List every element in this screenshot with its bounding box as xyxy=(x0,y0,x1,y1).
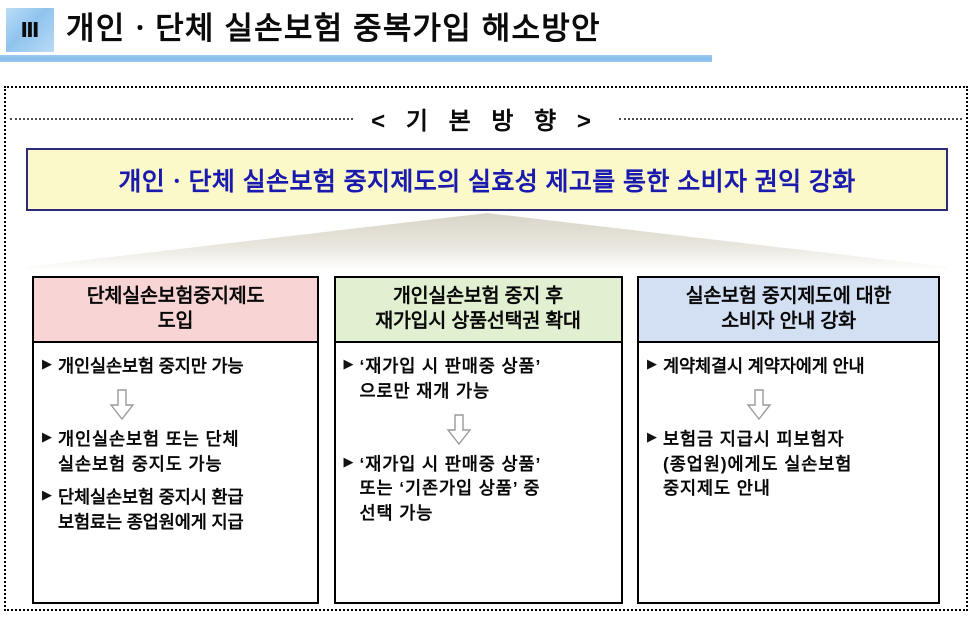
down-arrow-icon xyxy=(42,383,309,427)
box-3-header: 실손보험 중지제도에 대한 소비자 안내 강화 xyxy=(639,278,938,343)
box-1-header: 단체실손보험중지제도 도입 xyxy=(34,278,317,343)
list-item-text: 개인실손보험 또는 단체 실손보험 중지도 가능 xyxy=(58,427,309,477)
list-item-text: 개인실손보험 중지만 가능 xyxy=(58,354,309,379)
list-item: ▶ 계약체결시 계약자에게 안내 xyxy=(647,354,930,379)
down-arrow-icon xyxy=(647,383,930,427)
list-item-text: ‘재가입 시 판매중 상품’ 으로만 재개 가능 xyxy=(360,354,613,404)
strategy-box-row: 단체실손보험중지제도 도입 ▶ 개인실손보험 중지만 가능 ▶ 개인실손보험 또… xyxy=(32,276,940,604)
bullet-marker-icon: ▶ xyxy=(344,452,360,472)
goal-banner-text: 개인ㆍ단체 실손보험 중지제도의 실효성 제고를 통한 소비자 권익 강화 xyxy=(118,162,855,198)
dotted-rule-left xyxy=(10,118,353,120)
list-item: ▶ 개인실손보험 또는 단체 실손보험 중지도 가능 xyxy=(42,427,309,477)
roman-numeral-three-icon: Ⅲ xyxy=(6,8,54,52)
list-item-text: ‘재가입 시 판매중 상품’ 또는 ‘기존가입 상품’ 중 선택 가능 xyxy=(360,452,613,527)
list-item: ▶ 단체실손보험 중지시 환급 보험료는 종업원에게 지급 xyxy=(42,485,309,535)
box-2-header: 개인실손보험 중지 후 재가입시 상품선택권 확대 xyxy=(336,278,621,343)
box-group-insurance-suspension: 단체실손보험중지제도 도입 ▶ 개인실손보험 중지만 가능 ▶ 개인실손보험 또… xyxy=(32,276,319,604)
list-item: ▶ ‘재가입 시 판매중 상품’ 또는 ‘기존가입 상품’ 중 선택 가능 xyxy=(344,452,613,527)
list-item: ▶ ‘재가입 시 판매중 상품’ 으로만 재개 가능 xyxy=(344,354,613,404)
down-arrow-icon xyxy=(344,408,613,452)
list-item: ▶ 개인실손보험 중지만 가능 xyxy=(42,354,309,379)
bullet-marker-icon: ▶ xyxy=(42,427,58,447)
page-header: Ⅲ 개인ㆍ단체 실손보험 중복가입 해소방안 xyxy=(0,0,974,68)
section-heading: < 기 본 방 향 > xyxy=(10,98,962,138)
list-item-text: 보험금 지급시 피보험자 (종업원)에게도 실손보험 중지제도 안내 xyxy=(663,427,930,502)
box-product-choice-expansion: 개인실손보험 중지 후 재가입시 상품선택권 확대 ▶ ‘재가입 시 판매중 상… xyxy=(334,276,623,604)
box-3-body: ▶ 계약체결시 계약자에게 안내 ▶ 보험금 지급시 피보험자 (종업원)에게도… xyxy=(639,343,938,602)
box-2-body: ▶ ‘재가입 시 판매중 상품’ 으로만 재개 가능 ▶ ‘재가입 시 판매중 … xyxy=(336,343,621,602)
bullet-marker-icon: ▶ xyxy=(344,354,360,374)
list-item: ▶ 보험금 지급시 피보험자 (종업원)에게도 실손보험 중지제도 안내 xyxy=(647,427,930,502)
section-title-text: < 기 본 방 향 > xyxy=(371,101,601,136)
bullet-marker-icon: ▶ xyxy=(42,485,58,505)
bullet-marker-icon: ▶ xyxy=(42,354,58,374)
page-title: 개인ㆍ단체 실손보험 중복가입 해소방안 xyxy=(66,3,601,55)
bullet-marker-icon: ▶ xyxy=(647,427,663,447)
header-underline-bar xyxy=(0,55,712,62)
dotted-rule-right xyxy=(619,118,962,120)
list-item-text: 계약체결시 계약자에게 안내 xyxy=(663,354,930,379)
bullet-marker-icon: ▶ xyxy=(647,354,663,374)
box-consumer-notice: 실손보험 중지제도에 대한 소비자 안내 강화 ▶ 계약체결시 계약자에게 안내… xyxy=(637,276,940,604)
fan-connector-shape xyxy=(26,213,948,271)
goal-banner: 개인ㆍ단체 실손보험 중지제도의 실효성 제고를 통한 소비자 권익 강화 xyxy=(26,148,948,211)
box-1-body: ▶ 개인실손보험 중지만 가능 ▶ 개인실손보험 또는 단체 실손보험 중지도 … xyxy=(34,343,317,602)
list-item-text: 단체실손보험 중지시 환급 보험료는 종업원에게 지급 xyxy=(58,485,309,535)
